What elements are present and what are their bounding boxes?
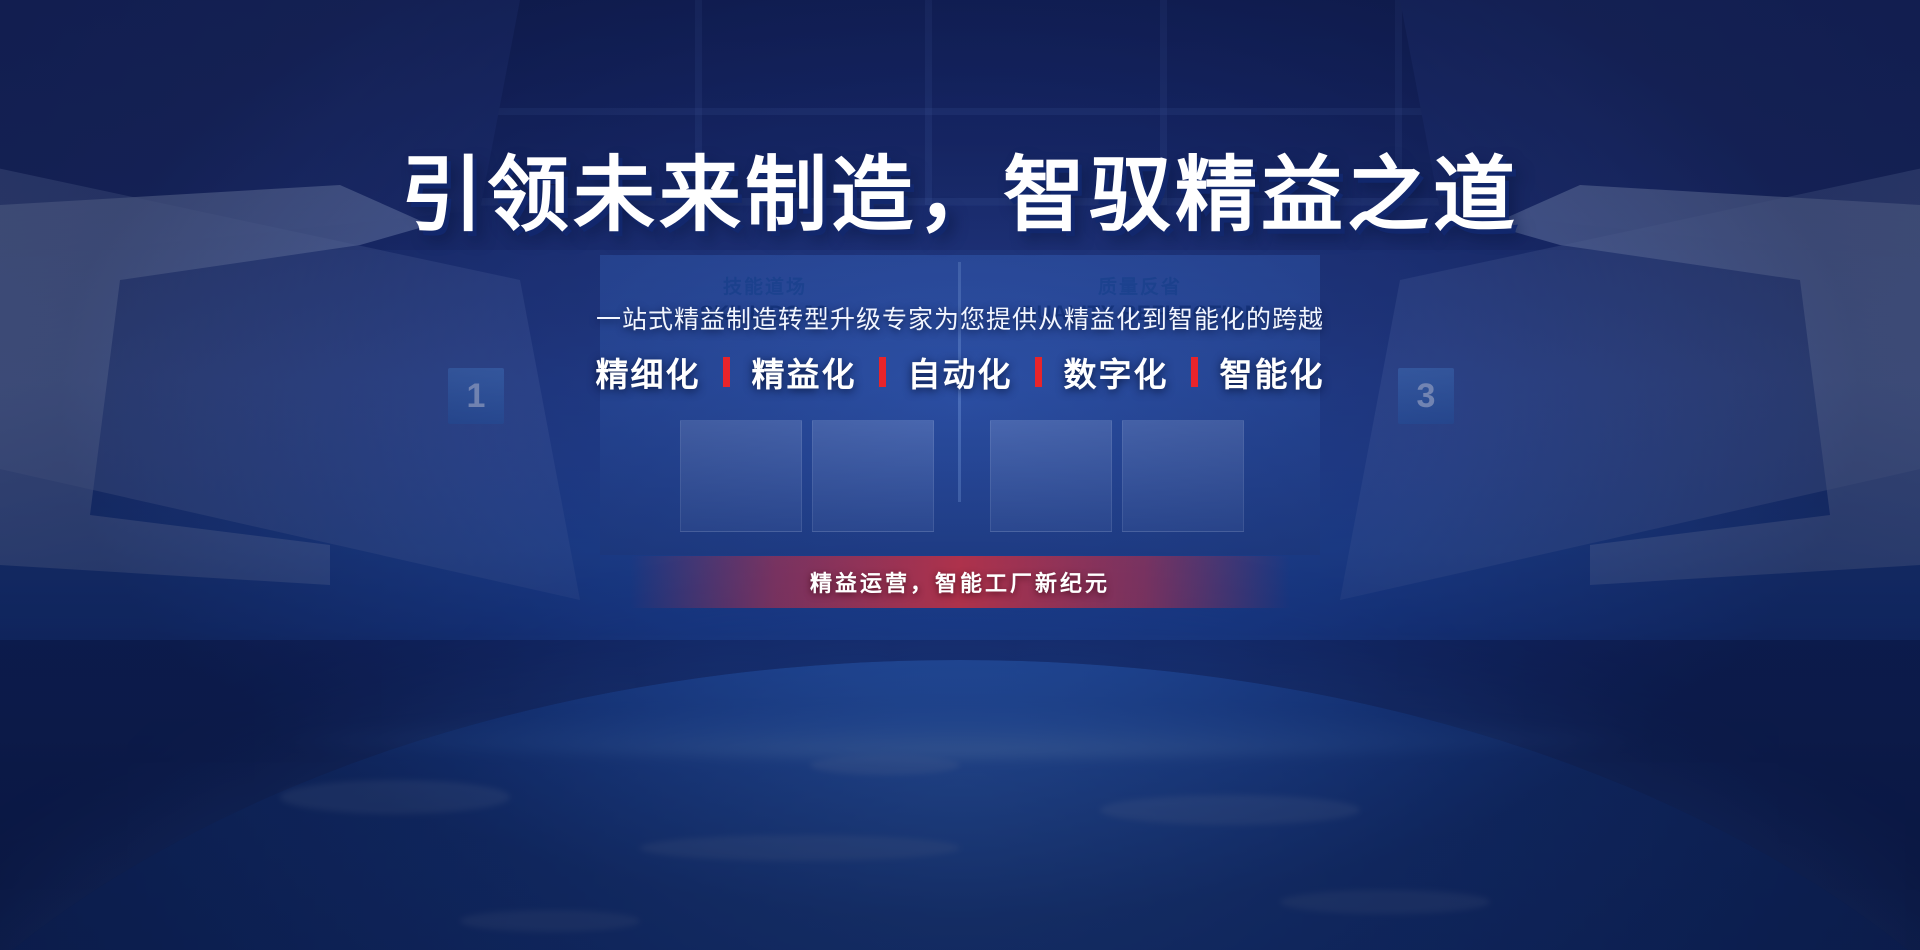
keyword-item: 自动化 bbox=[908, 348, 1013, 396]
keyword-separator bbox=[723, 357, 730, 387]
tagline-text: 精益运营，智能工厂新纪元 bbox=[810, 566, 1110, 598]
hero-subtitle: 一站式精益制造转型升级专家为您提供从精益化到智能化的跨越 bbox=[0, 300, 1920, 336]
keyword-item: 数字化 bbox=[1064, 348, 1169, 396]
keyword-separator bbox=[1035, 357, 1042, 387]
keyword-list: 精细化 精益化 自动化 数字化 智能化 bbox=[0, 348, 1920, 396]
keyword-item: 智能化 bbox=[1220, 348, 1325, 396]
keyword-item: 精益化 bbox=[752, 348, 857, 396]
keyword-item: 精细化 bbox=[596, 348, 701, 396]
keyword-separator bbox=[879, 357, 886, 387]
hero-banner: 技能道场 SKILL DOJO 质量反省 QUALITY REFLECTION … bbox=[0, 0, 1920, 950]
tagline-banner: 精益运营，智能工厂新纪元 bbox=[630, 556, 1290, 608]
page-title: 引领未来制造，智驭精益之道 bbox=[0, 128, 1920, 247]
keyword-separator bbox=[1191, 357, 1198, 387]
